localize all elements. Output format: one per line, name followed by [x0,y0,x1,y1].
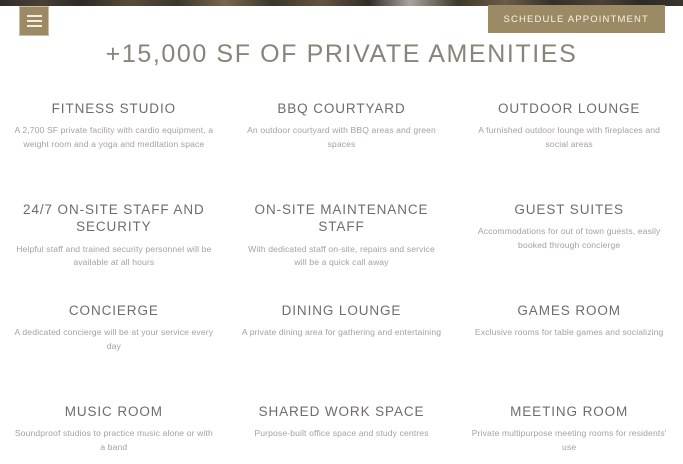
amenity-description: Purpose-built office space and study cen… [242,427,442,441]
amenity-card: CONCIERGE A dedicated concierge will be … [0,302,228,403]
site-header: SCHEDULE APPOINTMENT [0,0,683,44]
amenity-card: MEETING ROOM Private multipurpose meetin… [455,403,683,464]
amenity-title: ON-SITE MAINTENANCE STAFF [242,201,442,236]
amenity-description: An outdoor courtyard with BBQ areas and … [242,124,442,152]
menu-bar-3 [27,25,42,27]
amenity-description: A private dining area for gathering and … [242,326,442,340]
amenity-description: A dedicated concierge will be at your se… [14,326,214,354]
schedule-appointment-button[interactable]: SCHEDULE APPOINTMENT [488,5,665,33]
amenity-description: Accommodations for out of town guests, e… [469,225,669,253]
amenity-title: CONCIERGE [14,302,214,319]
amenity-title: MUSIC ROOM [14,403,214,420]
amenity-description: A furnished outdoor lounge with fireplac… [469,124,669,152]
amenity-card: ON-SITE MAINTENANCE STAFF With dedicated… [228,201,456,302]
amenity-description: A 2,700 SF private facility with cardio … [14,124,214,152]
amenity-title: BBQ COURTYARD [242,100,442,117]
amenities-grid: FITNESS STUDIO A 2,700 SF private facili… [0,100,683,464]
amenity-card: BBQ COURTYARD An outdoor courtyard with … [228,100,456,201]
amenity-description: Exclusive rooms for table games and soci… [469,326,669,340]
amenity-description: Soundproof studios to practice music alo… [14,427,214,455]
hamburger-menu-icon[interactable] [19,6,49,36]
amenity-title: SHARED WORK SPACE [242,403,442,420]
amenity-card: MUSIC ROOM Soundproof studios to practic… [0,403,228,464]
amenity-title: DINING LOUNGE [242,302,442,319]
amenity-card: FITNESS STUDIO A 2,700 SF private facili… [0,100,228,201]
amenities-page: SCHEDULE APPOINTMENT +15,000 SF OF PRIVA… [0,0,683,464]
amenity-title: 24/7 ON-SITE STAFF AND SECURITY [14,201,214,236]
amenity-card: OUTDOOR LOUNGE A furnished outdoor loung… [455,100,683,201]
page-title: +15,000 SF OF PRIVATE AMENITIES [0,40,683,69]
amenity-card: 24/7 ON-SITE STAFF AND SECURITY Helpful … [0,201,228,302]
amenity-card: DINING LOUNGE A private dining area for … [228,302,456,403]
amenity-title: OUTDOOR LOUNGE [469,100,669,117]
amenity-description: With dedicated staff on-site, repairs an… [242,243,442,271]
amenity-card: SHARED WORK SPACE Purpose-built office s… [228,403,456,464]
amenity-description: Private multipurpose meeting rooms for r… [469,427,669,455]
amenity-card: GAMES ROOM Exclusive rooms for table gam… [455,302,683,403]
amenity-title: GAMES ROOM [469,302,669,319]
amenity-title: FITNESS STUDIO [14,100,214,117]
amenity-description: Helpful staff and trained security perso… [14,243,214,271]
amenity-title: GUEST SUITES [469,201,669,218]
menu-bar-1 [27,15,42,17]
menu-bar-2 [27,20,42,22]
amenity-title: MEETING ROOM [469,403,669,420]
amenity-card: GUEST SUITES Accommodations for out of t… [455,201,683,302]
